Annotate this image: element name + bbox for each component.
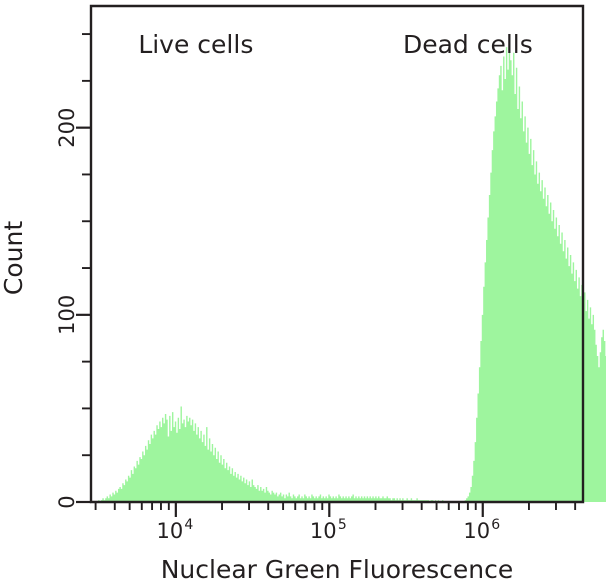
histogram-area [91,40,606,502]
x-axis-tick-label: 104 [156,517,193,543]
histogram-fill-path [91,40,606,502]
live-cells-label: Live cells [138,30,253,59]
y-axis-tick-label: 200 [55,108,79,148]
x-tick-exponent: 5 [338,517,347,533]
flow-cytometry-histogram-figure: 104105106 0100200 Live cellsDead cells N… [0,0,606,585]
plot-annotations: Live cellsDead cells [138,30,532,59]
y-axis-tick-label: 0 [55,495,79,508]
x-tick-base: 10 [310,519,337,543]
y-axis-tick-label: 100 [55,295,79,335]
y-axis-tick-labels: 0100200 [55,108,79,509]
x-axis-ticks [96,502,576,517]
y-axis-ticks [76,34,91,502]
x-axis-title: Nuclear Green Fluorescence [161,555,514,584]
dead-cells-label: Dead cells [403,30,533,59]
x-axis-tick-labels: 104105106 [156,517,500,543]
x-tick-base: 10 [156,519,183,543]
x-tick-base: 10 [463,519,490,543]
y-axis-title: Count [0,221,28,295]
histogram-plot: 104105106 0100200 Live cellsDead cells N… [0,0,606,585]
x-axis-tick-label: 106 [463,517,500,543]
x-tick-exponent: 4 [184,517,193,533]
x-tick-exponent: 6 [491,517,500,533]
x-axis-tick-label: 105 [310,517,347,543]
